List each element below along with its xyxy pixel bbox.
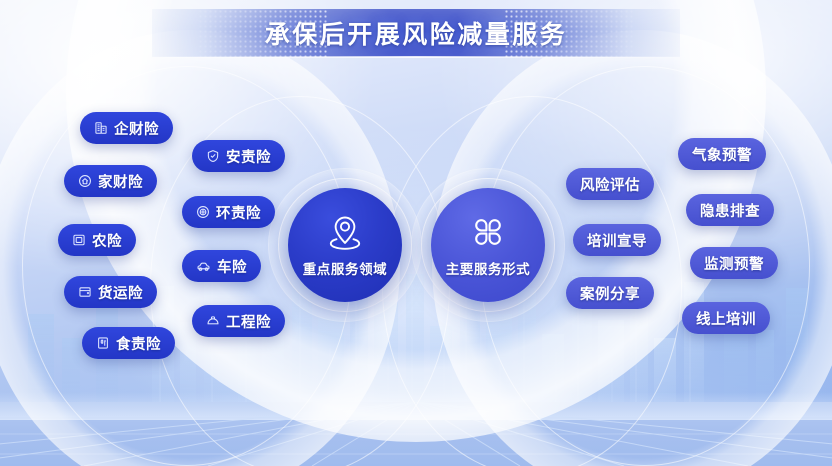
pill-label: 企财险 xyxy=(114,118,159,139)
infographic-canvas: 承保后开展风险减量服务 重点服务领域 xyxy=(0,0,832,466)
pill-huoyunxian[interactable]: 货运险 xyxy=(64,276,157,308)
pill-shizexian[interactable]: 食责险 xyxy=(82,327,175,359)
food-safety-icon xyxy=(96,336,110,350)
pill-gongchengxian[interactable]: 工程险 xyxy=(192,305,285,337)
cargo-box-icon xyxy=(78,285,92,299)
pill-anlifenxiang[interactable]: 案例分享 xyxy=(566,277,654,309)
pill-huanzexian[interactable]: 环责险 xyxy=(182,196,275,228)
hub-main-service-forms[interactable]: 主要服务形式 xyxy=(431,188,545,302)
pill-peixunxuandao[interactable]: 培训宣导 xyxy=(573,224,661,256)
house-icon xyxy=(78,174,92,188)
page-title: 承保后开展风险减量服务 xyxy=(265,15,568,51)
pill-label: 监测预警 xyxy=(704,253,764,274)
pill-qicaixian[interactable]: 企财险 xyxy=(80,112,173,144)
location-pin-icon xyxy=(325,212,365,252)
pill-xianshangpeixun[interactable]: 线上培训 xyxy=(682,302,770,334)
hub-label: 主要服务形式 xyxy=(446,258,531,278)
pill-qixiangyujing[interactable]: 气象预警 xyxy=(678,138,766,170)
pill-label: 培训宣导 xyxy=(587,230,647,251)
pill-label: 安责险 xyxy=(226,146,271,167)
pill-fengxianpinggu[interactable]: 风险评估 xyxy=(566,168,654,200)
pill-label: 气象预警 xyxy=(692,144,752,165)
pill-yinhuanpaicha[interactable]: 隐患排查 xyxy=(686,194,774,226)
hub-label: 重点服务领域 xyxy=(303,258,388,278)
eco-globe-icon xyxy=(196,205,210,219)
hub-key-service-areas[interactable]: 重点服务领域 xyxy=(288,188,402,302)
pill-label: 风险评估 xyxy=(580,174,640,195)
pill-label: 家财险 xyxy=(98,171,143,192)
field-icon xyxy=(72,233,86,247)
shield-check-icon xyxy=(206,149,220,163)
pill-label: 工程险 xyxy=(226,311,271,332)
pill-label: 食责险 xyxy=(116,333,161,354)
pill-label: 农险 xyxy=(92,230,122,251)
pill-label: 环责险 xyxy=(216,202,261,223)
pill-jiancheyujing[interactable]: 监测预警 xyxy=(690,247,778,279)
pill-label: 案例分享 xyxy=(580,283,640,304)
pill-anzexian[interactable]: 安责险 xyxy=(192,140,285,172)
building-icon xyxy=(94,121,108,135)
clover-four-petal-icon xyxy=(468,212,508,252)
pill-label: 车险 xyxy=(217,256,247,277)
pill-label: 隐患排查 xyxy=(700,200,760,221)
pill-label: 货运险 xyxy=(98,282,143,303)
helmet-icon xyxy=(206,314,220,328)
pill-nongxian[interactable]: 农险 xyxy=(58,224,136,256)
pill-jiacaixian[interactable]: 家财险 xyxy=(64,165,157,197)
pill-chexian[interactable]: 车险 xyxy=(182,250,261,282)
car-icon xyxy=(196,259,211,274)
pill-label: 线上培训 xyxy=(696,308,756,329)
